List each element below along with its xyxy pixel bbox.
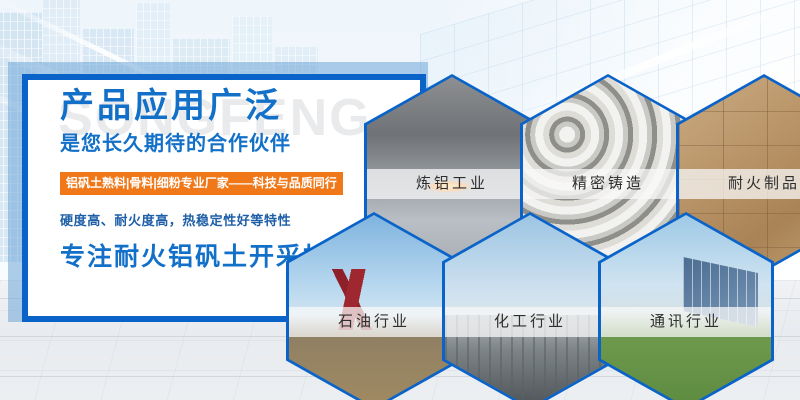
hex-label: 耐火制品 (679, 169, 800, 199)
hex-label: 炼铝工业 (367, 169, 537, 199)
hexagon-gallery: 炼铝工业 精密铸造 耐火制品 石油行业 化工行业 (0, 0, 800, 400)
hex-label: 化工行业 (445, 307, 615, 337)
promo-banner: M SONGFENG 产品应用广泛 是您长久期待的合作伙伴 铝矾土熟料|骨料|细… (0, 0, 800, 400)
hex-label: 通讯行业 (601, 307, 771, 337)
hex-label: 精密铸造 (523, 169, 693, 199)
hex-label: 石油行业 (289, 307, 459, 337)
